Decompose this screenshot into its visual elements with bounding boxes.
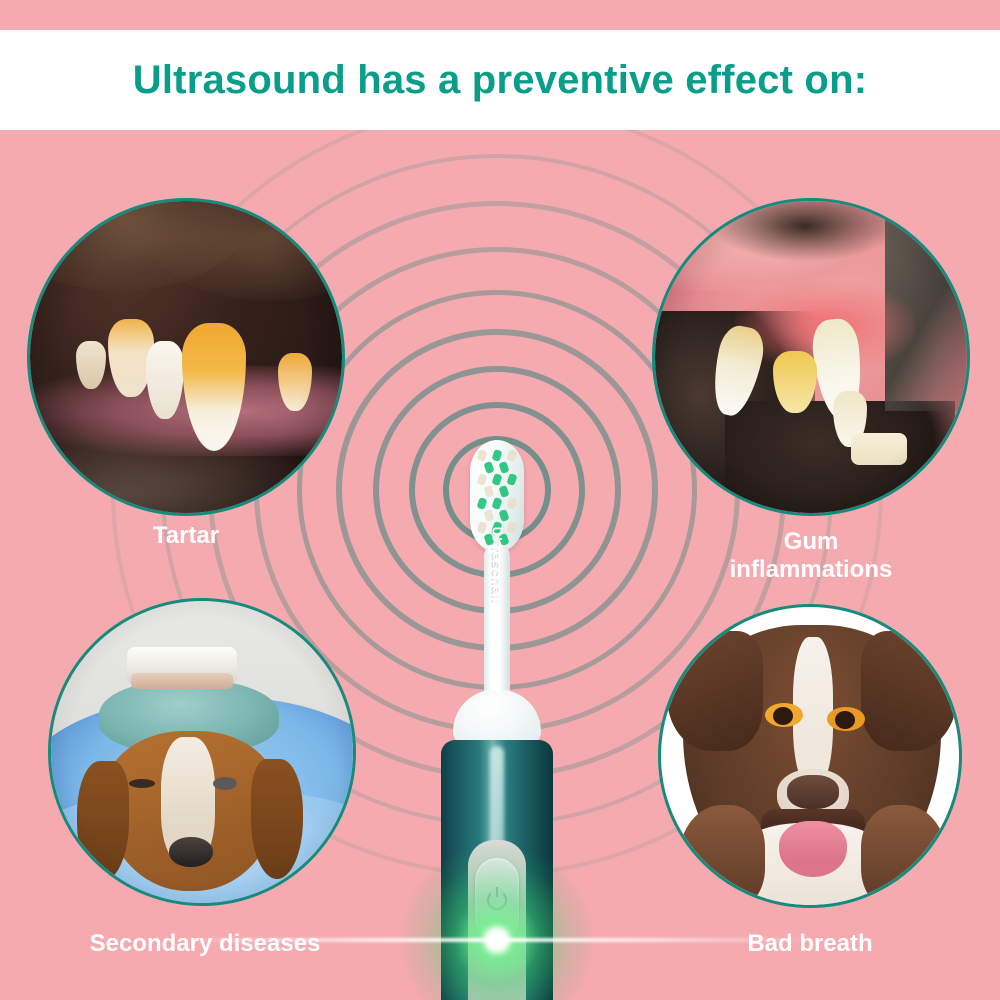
led-indicator-glow — [402, 845, 592, 1000]
bristle-tuft — [506, 497, 517, 510]
bristle-tuft — [476, 449, 487, 462]
benefit-photo-secondary-diseases — [48, 598, 356, 906]
handle-emboss-text: Ultraschall — [490, 527, 505, 604]
bristle-tuft — [491, 497, 502, 510]
benefit-label-tartar: Tartar — [27, 522, 345, 550]
bristle-tuft — [506, 473, 517, 486]
infographic-canvas: Ultrasound has a preventive effect on: T… — [0, 0, 1000, 1000]
bristle-tuft — [506, 521, 517, 534]
bristle-tuft — [491, 449, 502, 462]
benefit-photo-tartar — [27, 198, 345, 516]
bristle-tuft — [483, 461, 494, 474]
top-pink-strip — [0, 0, 1000, 30]
bristle-tuft — [491, 473, 502, 486]
photo-dog-teeth-with-tartar — [30, 201, 342, 513]
benefit-label-gum-inflammations: Gum inflammations — [652, 528, 970, 583]
header-band: Ultrasound has a preventive effect on: — [0, 30, 1000, 130]
photo-sick-beagle-with-ice-pack — [51, 601, 353, 903]
bristle-tuft — [476, 497, 487, 510]
bristle-tuft — [498, 461, 509, 474]
benefit-label-bad-breath: Bad breath — [660, 930, 960, 958]
benefit-photo-bad-breath — [658, 604, 962, 908]
benefit-label-secondary-diseases: Secondary diseases — [30, 930, 380, 958]
bristle-tuft — [476, 473, 487, 486]
led-indicator-core — [484, 927, 510, 953]
bristle-tuft — [483, 509, 494, 522]
bristle-tuft — [476, 521, 487, 534]
benefit-photo-gum-inflammations — [652, 198, 970, 516]
bristle-tuft — [498, 485, 509, 498]
bristle-tuft — [483, 485, 494, 498]
bristle-tuft — [498, 509, 509, 522]
page-title: Ultrasound has a preventive effect on: — [133, 58, 867, 103]
bristle-tuft — [506, 449, 517, 462]
photo-inflamed-dog-gums — [655, 201, 967, 513]
photo-happy-australian-shepherd — [661, 607, 959, 905]
